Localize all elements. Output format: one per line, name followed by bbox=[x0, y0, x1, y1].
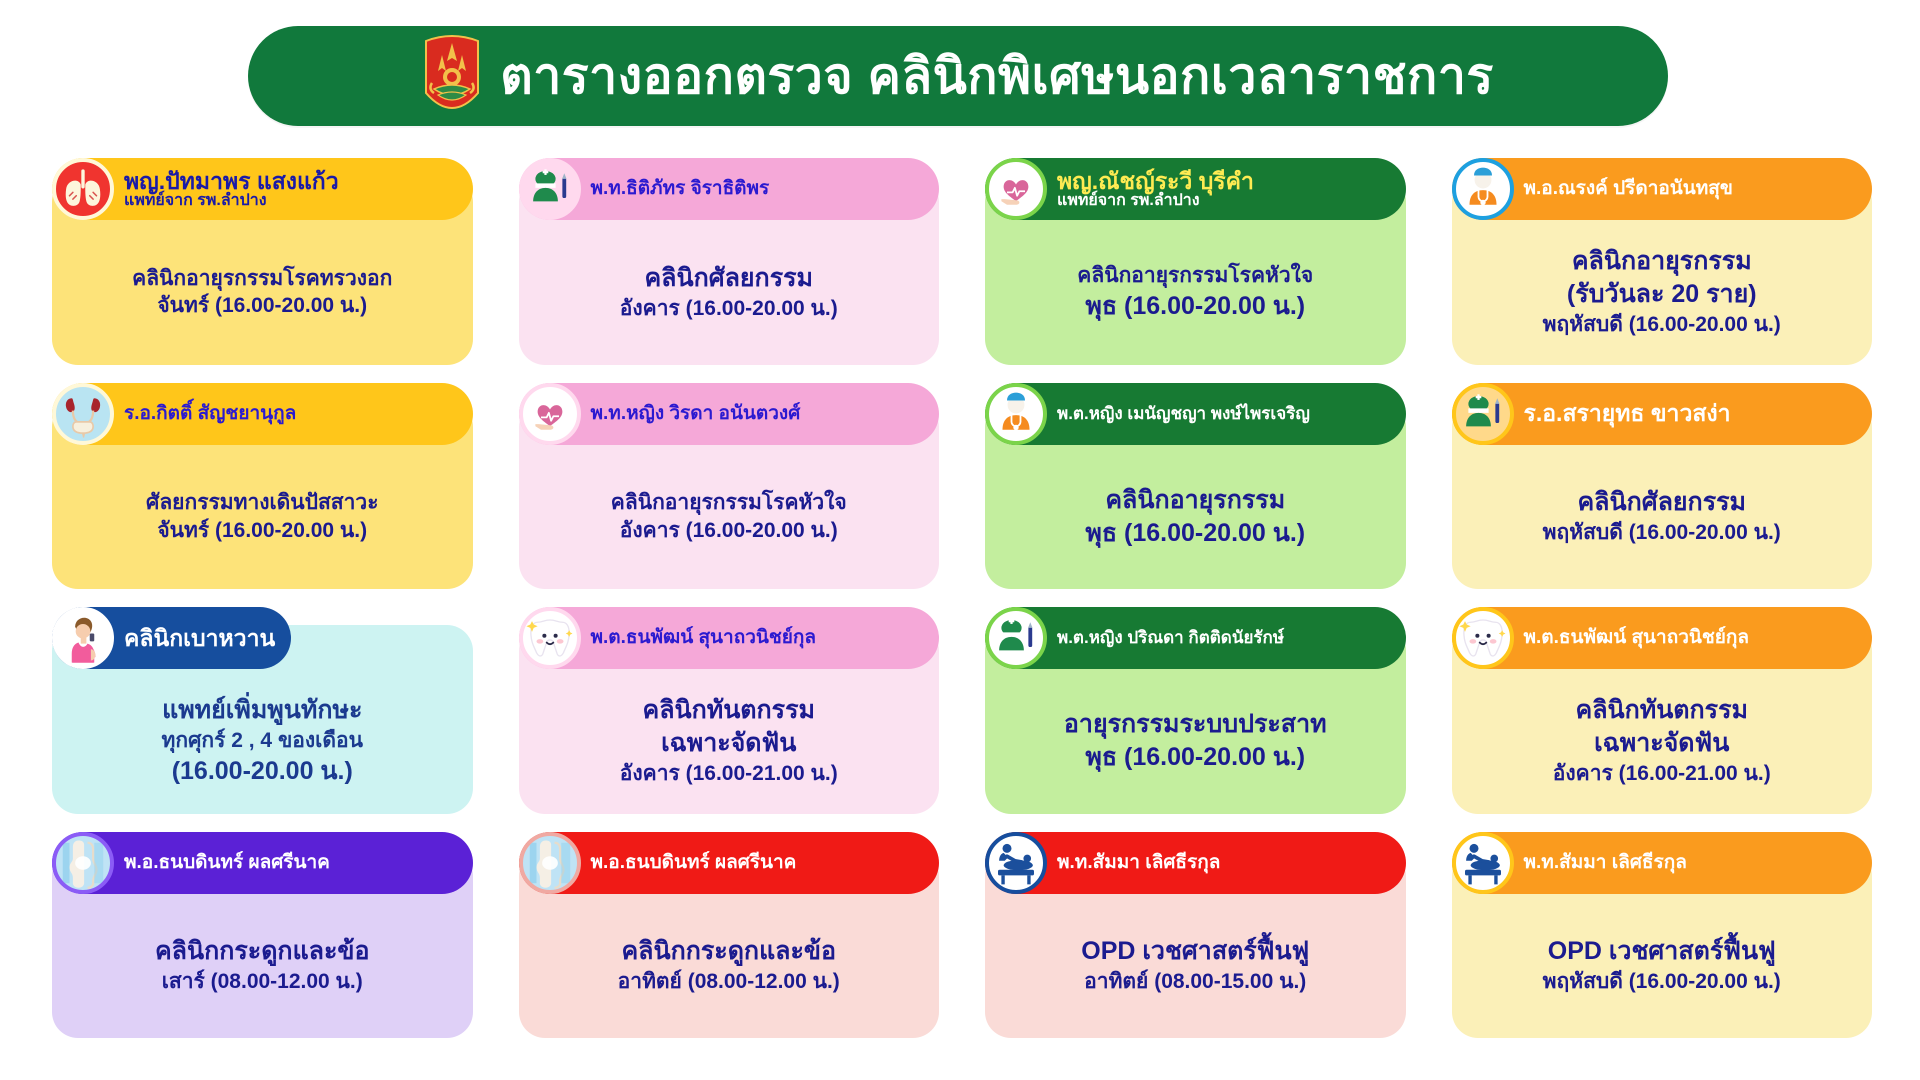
clinic-info-line: พุธ (16.00-20.00 น.) bbox=[1085, 741, 1305, 774]
lungs-icon bbox=[52, 158, 114, 220]
clinic-info-line: อังคาร (16.00-21.00 น.) bbox=[1553, 760, 1771, 788]
clinic-card-grid: พญ.ปัทมาพร แสงแก้วแพทย์จาก รพ.ลำปางคลินิ… bbox=[52, 158, 1872, 1038]
page-title: ตารางออกตรวจ คลินิกพิเศษนอกเวลาราชการ bbox=[500, 51, 1494, 101]
clinic-info-line: คลินิกอายุรกรรมโรคทรวงอก bbox=[132, 265, 392, 293]
clinic-info-line: แพทย์เพิ่มพูนทักษะ bbox=[162, 694, 362, 727]
clinic-info-line: (16.00-20.00 น.) bbox=[172, 755, 353, 788]
clinic-info-line: (รับวันละ 20 ราย) bbox=[1567, 278, 1757, 311]
clinic-info-line: OPD เวชศาสตร์ฟื้นฟู bbox=[1548, 935, 1776, 968]
clinic-info-line: คลินิกศัลยกรรม bbox=[1577, 486, 1746, 519]
clinic-info-line: คลินิกกระดูกและข้อ bbox=[621, 935, 836, 968]
doctor-name-block: พ.ท.สัมมา เลิศธีรกุล bbox=[1524, 853, 1687, 873]
physiotherapy-icon bbox=[985, 832, 1047, 894]
clinic-card[interactable]: ร.อ.กิตติ์ สัญชยานุกูลศัลยกรรมทางเดินปัส… bbox=[52, 383, 473, 590]
clinic-card[interactable]: พ.ต.ธนพัฒน์ สุนาถวนิชย์กุลคลินิกทันตกรรม… bbox=[1452, 607, 1873, 814]
doctor-name: พ.ท.สัมมา เลิศธีรกุล bbox=[1057, 853, 1220, 873]
clinic-card-header: พ.ท.ธิติภัทร จิราธิติพร bbox=[519, 158, 940, 220]
clinic-card-header: ร.อ.กิตติ์ สัญชยานุกูล bbox=[52, 383, 473, 445]
doctor-name: พ.ต.หญิง เมนัญชญา พงษ์ไพรเจริญ bbox=[1057, 405, 1310, 423]
clinic-info-line: คลินิกศัลยกรรม bbox=[644, 262, 813, 295]
clinic-info-line: พฤหัสบดี (16.00-20.00 น.) bbox=[1543, 311, 1781, 339]
doctor-name-block: พ.ต.หญิง เมนัญชญา พงษ์ไพรเจริญ bbox=[1057, 405, 1310, 423]
clinic-info-line: อาทิตย์ (08.00-12.00 น.) bbox=[618, 968, 840, 996]
doctor-affiliation: แพทย์จาก รพ.ลำปาง bbox=[124, 193, 339, 210]
clinic-info-line: เสาร์ (08.00-12.00 น.) bbox=[162, 968, 363, 996]
clinic-card[interactable]: พญ.ณัชญ์ระวี บุรีคำแพทย์จาก รพ.ลำปางคลิน… bbox=[985, 158, 1406, 365]
clinic-card[interactable]: พ.อ.ณรงค์ ปรีดาอนันทสุขคลินิกอายุรกรรม(ร… bbox=[1452, 158, 1873, 365]
thai-royal-crest-icon bbox=[422, 31, 482, 123]
poster-root: ตารางออกตรวจ คลินิกพิเศษนอกเวลาราชการ พญ… bbox=[0, 0, 1920, 1080]
doctor-name-block: พ.ท.ธิติภัทร จิราธิติพร bbox=[591, 179, 770, 199]
clinic-card[interactable]: พ.ต.ธนพัฒน์ สุนาถวนิชย์กุลคลินิกทันตกรรม… bbox=[519, 607, 940, 814]
surgeon-icon bbox=[519, 158, 581, 220]
clinic-info-line: ทุกศุกร์ 2 , 4 ของเดือน bbox=[162, 727, 363, 755]
clinic-card-header: คลินิกเบาหวาน bbox=[52, 607, 291, 669]
doctor-icon bbox=[1452, 158, 1514, 220]
clinic-card-header: พญ.ปัทมาพร แสงแก้วแพทย์จาก รพ.ลำปาง bbox=[52, 158, 473, 220]
clinic-info-line: ศัลยกรรมทางเดินปัสสาวะ bbox=[146, 489, 379, 517]
doctor-name-block: พ.ต.หญิง ปริณดา กิตติดนัยรักษ์ bbox=[1057, 629, 1284, 647]
tooth-icon bbox=[519, 607, 581, 669]
heart-hand-icon bbox=[985, 158, 1047, 220]
clinic-info-line: พุธ (16.00-20.00 น.) bbox=[1085, 517, 1305, 550]
clinic-info-line: คลินิกอายุรกรรม bbox=[1572, 245, 1752, 278]
clinic-info-line: จันทร์ (16.00-20.00 น.) bbox=[157, 292, 367, 320]
surgeon-icon bbox=[1452, 383, 1514, 445]
clinic-info-line: อาทิตย์ (08.00-15.00 น.) bbox=[1084, 968, 1306, 996]
doctor-name-block: พ.ต.ธนพัฒน์ สุนาถวนิชย์กุล bbox=[1524, 628, 1750, 648]
header-banner: ตารางออกตรวจ คลินิกพิเศษนอกเวลาราชการ bbox=[248, 26, 1668, 126]
doctor-affiliation: แพทย์จาก รพ.ลำปาง bbox=[1057, 193, 1254, 210]
clinic-card-header: พ.ท.สัมมา เลิศธีรกุล bbox=[1452, 832, 1873, 894]
doctor-name-block: พญ.ปัทมาพร แสงแก้วแพทย์จาก รพ.ลำปาง bbox=[124, 169, 339, 210]
pregnant-woman-icon bbox=[52, 607, 114, 669]
clinic-card[interactable]: คลินิกเบาหวานแพทย์เพิ่มพูนทักษะทุกศุกร์ … bbox=[52, 607, 473, 814]
doctor-name: คลินิกเบาหวาน bbox=[124, 626, 275, 650]
clinic-card-header: พ.อ.ธนบดินทร์ ผลศรีนาค bbox=[519, 832, 940, 894]
doctor-name: พ.ท.หญิง วิรดา อนันตวงศ์ bbox=[591, 404, 801, 424]
doctor-name: พญ.ณัชญ์ระวี บุรีคำ bbox=[1057, 169, 1254, 193]
doctor-name-block: ร.อ.สรายุทธ ขาวสง่า bbox=[1524, 401, 1731, 425]
clinic-card-header: พ.ท.สัมมา เลิศธีรกุล bbox=[985, 832, 1406, 894]
doctor-icon bbox=[985, 383, 1047, 445]
doctor-name: พ.ต.หญิง ปริณดา กิตติดนัยรักษ์ bbox=[1057, 629, 1284, 647]
clinic-card-header: ร.อ.สรายุทธ ขาวสง่า bbox=[1452, 383, 1873, 445]
clinic-card-header: พ.อ.ณรงค์ ปรีดาอนันทสุข bbox=[1452, 158, 1873, 220]
knee-joint-icon bbox=[519, 832, 581, 894]
clinic-card[interactable]: พ.ต.หญิง เมนัญชญา พงษ์ไพรเจริญคลินิกอายุ… bbox=[985, 383, 1406, 590]
surgeon-icon bbox=[985, 607, 1047, 669]
clinic-info-line: อังคาร (16.00-20.00 น.) bbox=[620, 295, 838, 323]
clinic-card-header: พ.อ.ธนบดินทร์ ผลศรีนาค bbox=[52, 832, 473, 894]
kidney-icon bbox=[52, 383, 114, 445]
doctor-name: พ.ท.ธิติภัทร จิราธิติพร bbox=[591, 179, 770, 199]
doctor-name: ร.อ.สรายุทธ ขาวสง่า bbox=[1524, 401, 1731, 425]
doctor-name-block: พ.ท.สัมมา เลิศธีรกุล bbox=[1057, 853, 1220, 873]
doctor-name: พ.อ.ธนบดินทร์ ผลศรีนาค bbox=[124, 853, 330, 873]
clinic-info-line: คลินิกอายุรกรรมโรคหัวใจ bbox=[1077, 262, 1313, 290]
clinic-card-header: พ.ท.หญิง วิรดา อนันตวงศ์ bbox=[519, 383, 940, 445]
doctor-name-block: ร.อ.กิตติ์ สัญชยานุกูล bbox=[124, 404, 296, 424]
clinic-card[interactable]: พ.อ.ธนบดินทร์ ผลศรีนาคคลินิกกระดูกและข้อ… bbox=[52, 832, 473, 1039]
clinic-info-line: พฤหัสบดี (16.00-20.00 น.) bbox=[1543, 968, 1781, 996]
clinic-info-line: อังคาร (16.00-21.00 น.) bbox=[620, 760, 838, 788]
clinic-info-line: คลินิกทันตกรรม bbox=[1575, 694, 1748, 727]
tooth-icon bbox=[1452, 607, 1514, 669]
doctor-name-block: คลินิกเบาหวาน bbox=[124, 626, 275, 650]
clinic-info-line: คลินิกทันตกรรม bbox=[642, 694, 815, 727]
clinic-card[interactable]: พญ.ปัทมาพร แสงแก้วแพทย์จาก รพ.ลำปางคลินิ… bbox=[52, 158, 473, 365]
doctor-name-block: พญ.ณัชญ์ระวี บุรีคำแพทย์จาก รพ.ลำปาง bbox=[1057, 169, 1254, 210]
doctor-name: พ.ท.สัมมา เลิศธีรกุล bbox=[1524, 853, 1687, 873]
clinic-card[interactable]: พ.ท.หญิง วิรดา อนันตวงศ์คลินิกอายุรกรรมโ… bbox=[519, 383, 940, 590]
doctor-name: พ.อ.ธนบดินทร์ ผลศรีนาค bbox=[591, 853, 797, 873]
clinic-info-line: พฤหัสบดี (16.00-20.00 น.) bbox=[1543, 519, 1781, 547]
heart-hand-icon bbox=[519, 383, 581, 445]
clinic-card-header: พ.ต.ธนพัฒน์ สุนาถวนิชย์กุล bbox=[1452, 607, 1873, 669]
doctor-name: พญ.ปัทมาพร แสงแก้ว bbox=[124, 169, 339, 193]
clinic-info-line: คลินิกอายุรกรรมโรคหัวใจ bbox=[611, 489, 847, 517]
doctor-name-block: พ.ท.หญิง วิรดา อนันตวงศ์ bbox=[591, 404, 801, 424]
clinic-card[interactable]: พ.ท.สัมมา เลิศธีรกุลOPD เวชศาสตร์ฟื้นฟูอ… bbox=[985, 832, 1406, 1039]
clinic-info-line: อายุรกรรมระบบประสาท bbox=[1064, 708, 1327, 741]
physiotherapy-icon bbox=[1452, 832, 1514, 894]
clinic-info-line: อังคาร (16.00-20.00 น.) bbox=[620, 517, 838, 545]
doctor-name: พ.ต.ธนพัฒน์ สุนาถวนิชย์กุล bbox=[591, 628, 817, 648]
clinic-card[interactable]: ร.อ.สรายุทธ ขาวสง่าคลินิกศัลยกรรมพฤหัสบด… bbox=[1452, 383, 1873, 590]
clinic-info-line: คลินิกอายุรกรรม bbox=[1105, 484, 1285, 517]
clinic-card-header: พ.ต.ธนพัฒน์ สุนาถวนิชย์กุล bbox=[519, 607, 940, 669]
doctor-name: ร.อ.กิตติ์ สัญชยานุกูล bbox=[124, 404, 296, 424]
clinic-info-line: จันทร์ (16.00-20.00 น.) bbox=[157, 517, 367, 545]
clinic-info-line: เฉพาะจัดฟัน bbox=[1594, 727, 1729, 760]
clinic-card-header: พ.ต.หญิง ปริณดา กิตติดนัยรักษ์ bbox=[985, 607, 1406, 669]
clinic-info-line: เฉพาะจัดฟัน bbox=[661, 727, 796, 760]
clinic-card-header: พ.ต.หญิง เมนัญชญา พงษ์ไพรเจริญ bbox=[985, 383, 1406, 445]
knee-joint-icon bbox=[52, 832, 114, 894]
clinic-card[interactable]: พ.ท.สัมมา เลิศธีรกุลOPD เวชศาสตร์ฟื้นฟูพ… bbox=[1452, 832, 1873, 1039]
doctor-name-block: พ.อ.ณรงค์ ปรีดาอนันทสุข bbox=[1524, 179, 1733, 199]
clinic-info-line: พุธ (16.00-20.00 น.) bbox=[1085, 290, 1305, 323]
clinic-card[interactable]: พ.อ.ธนบดินทร์ ผลศรีนาคคลินิกกระดูกและข้อ… bbox=[519, 832, 940, 1039]
doctor-name: พ.อ.ณรงค์ ปรีดาอนันทสุข bbox=[1524, 179, 1733, 199]
clinic-card[interactable]: พ.ท.ธิติภัทร จิราธิติพรคลินิกศัลยกรรมอัง… bbox=[519, 158, 940, 365]
doctor-name-block: พ.อ.ธนบดินทร์ ผลศรีนาค bbox=[591, 853, 797, 873]
doctor-name: พ.ต.ธนพัฒน์ สุนาถวนิชย์กุล bbox=[1524, 628, 1750, 648]
clinic-info-line: OPD เวชศาสตร์ฟื้นฟู bbox=[1081, 935, 1309, 968]
clinic-card-header: พญ.ณัชญ์ระวี บุรีคำแพทย์จาก รพ.ลำปาง bbox=[985, 158, 1406, 220]
clinic-card[interactable]: พ.ต.หญิง ปริณดา กิตติดนัยรักษ์อายุรกรรมร… bbox=[985, 607, 1406, 814]
clinic-info-line: คลินิกกระดูกและข้อ bbox=[155, 935, 370, 968]
doctor-name-block: พ.ต.ธนพัฒน์ สุนาถวนิชย์กุล bbox=[591, 628, 817, 648]
doctor-name-block: พ.อ.ธนบดินทร์ ผลศรีนาค bbox=[124, 853, 330, 873]
